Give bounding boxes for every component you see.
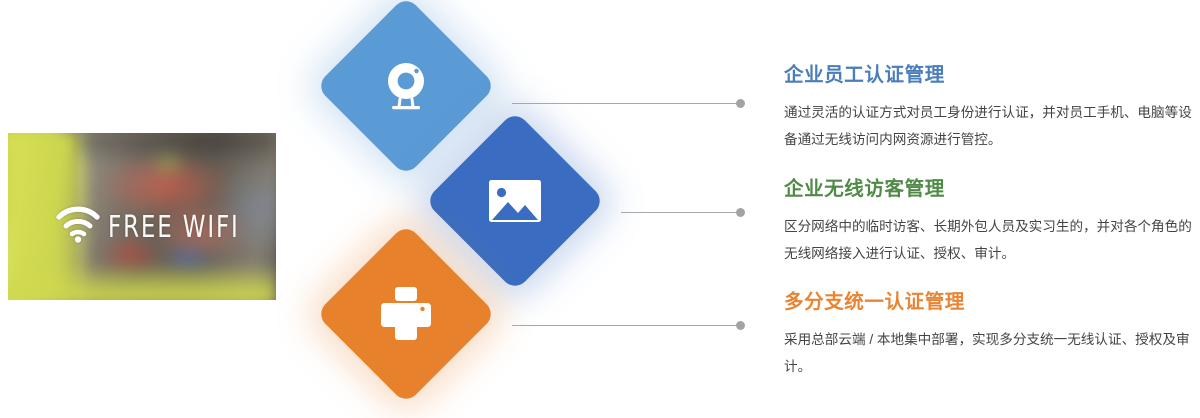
printer-icon [342, 250, 470, 378]
connector-line-2 [621, 212, 740, 213]
feature-body-2: 区分网络中的临时访客、长期外包人员及实习生的，并对各个角色的无线网络接入进行认证… [784, 214, 1196, 267]
connector-line-1 [512, 103, 740, 104]
feature-text-1: 企业员工认证管理 通过灵活的认证方式对员工身份进行认证，并对员工手机、电脑等设备… [784, 58, 1196, 153]
feature-heading-2: 企业无线访客管理 [784, 172, 1196, 201]
feature-heading-3: 多分支统一认证管理 [784, 285, 1196, 314]
feature-text-3: 多分支统一认证管理 采用总部云端 / 本地集中部署，实现多分支统一无线认证、授权… [784, 285, 1196, 380]
feature-text-2: 企业无线访客管理 区分网络中的临时访客、长期外包人员及实习生的，并对各个角色的无… [784, 172, 1196, 267]
connector-dot-1 [736, 99, 745, 108]
wifi-icon [56, 205, 100, 243]
feature-body-3: 采用总部云端 / 本地集中部署，实现多分支统一无线认证、授权及审计。 [784, 327, 1196, 380]
feature-heading-1: 企业员工认证管理 [784, 58, 1196, 87]
photo-caption: FREE WIFI [108, 209, 240, 244]
feature-diagram: FREE WIFI [0, 0, 1200, 418]
free-wifi-photo: FREE WIFI [8, 133, 276, 300]
connector-dot-3 [736, 321, 745, 330]
photo-yellow-ledge [8, 263, 276, 300]
feature-diamond-3[interactable] [315, 223, 496, 404]
image-icon [451, 137, 579, 265]
connector-line-3 [512, 325, 740, 326]
webcam-icon [342, 22, 470, 150]
feature-body-1: 通过灵活的认证方式对员工身份进行认证，并对员工手机、电脑等设备通过无线访问内网资… [784, 100, 1196, 153]
connector-dot-2 [736, 208, 745, 217]
